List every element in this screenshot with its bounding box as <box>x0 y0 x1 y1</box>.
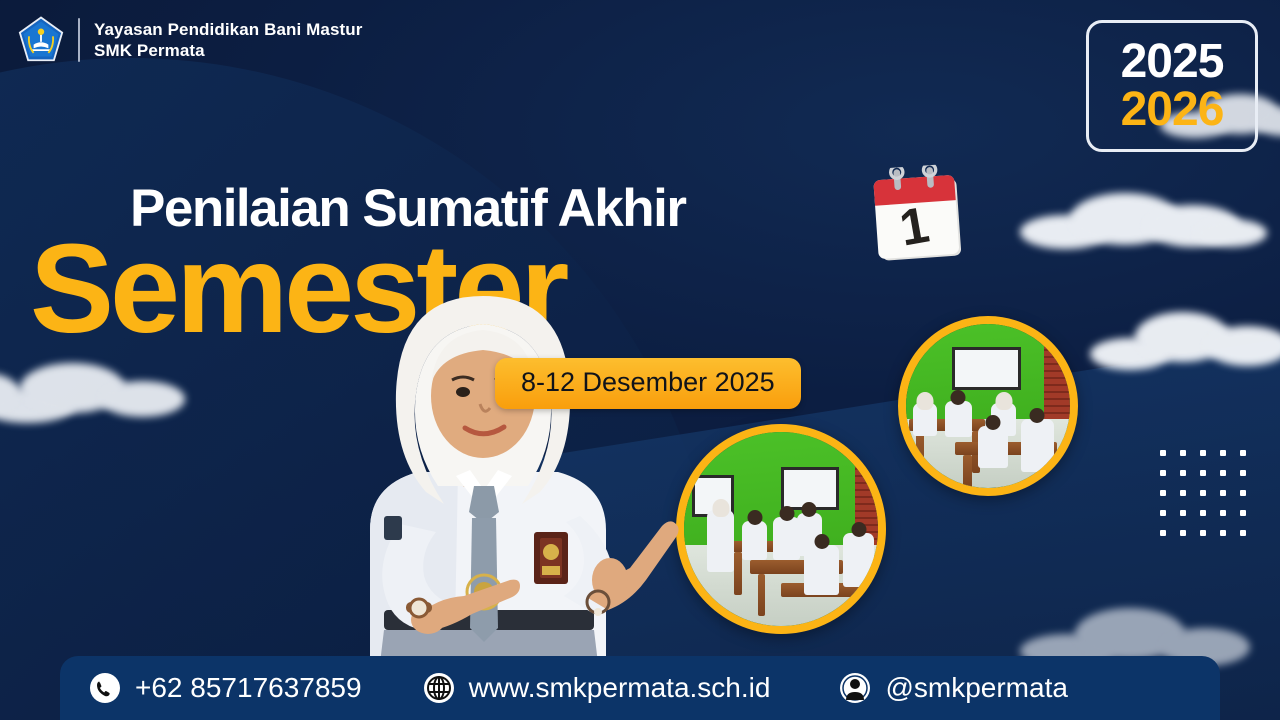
tut-wuri-handayani-education-emblem-icon <box>18 16 64 64</box>
tear-off-calendar-icon: 1 <box>869 163 969 265</box>
student-pointing-photo <box>258 280 728 680</box>
header-brand: Yayasan Pendidikan Bani Mastur SMK Perma… <box>18 16 362 64</box>
year-end: 2026 <box>1121 86 1224 134</box>
person-icon <box>838 671 872 705</box>
contact-phone-label: +62 85717637859 <box>135 672 362 704</box>
dot-grid-decoration <box>1160 450 1246 536</box>
headline-subtitle: Penilaian Sumatif Akhir <box>130 178 686 239</box>
foundation-name: Yayasan Pendidikan Bani Mastur <box>94 19 362 40</box>
academic-year-badge: 2025 2026 <box>1086 20 1258 152</box>
cloud-icon <box>0 355 220 435</box>
header-divider <box>78 18 80 62</box>
exam-date-badge: 8-12 Desember 2025 <box>495 358 801 409</box>
contact-social[interactable]: @smkpermata <box>838 671 1067 705</box>
school-name: SMK Permata <box>94 40 362 61</box>
contact-website[interactable]: www.smkpermata.sch.id <box>422 671 771 705</box>
cloud-icon <box>1090 300 1280 380</box>
contact-social-label: @smkpermata <box>885 672 1067 704</box>
poster-canvas: Yayasan Pendidikan Bani Mastur SMK Perma… <box>0 0 1280 720</box>
header-text-block: Yayasan Pendidikan Bani Mastur SMK Perma… <box>94 19 362 62</box>
phone-icon <box>88 671 122 705</box>
globe-icon <box>422 671 456 705</box>
cloud-icon <box>1010 185 1270 255</box>
contact-phone[interactable]: +62 85717637859 <box>88 671 362 705</box>
footer-contact-bar: +62 85717637859 www.smkpermata.sch.id @s… <box>60 656 1220 720</box>
contact-website-label: www.smkpermata.sch.id <box>469 672 771 704</box>
classroom-photo-exam-session <box>898 316 1078 496</box>
year-start: 2025 <box>1121 38 1224 86</box>
